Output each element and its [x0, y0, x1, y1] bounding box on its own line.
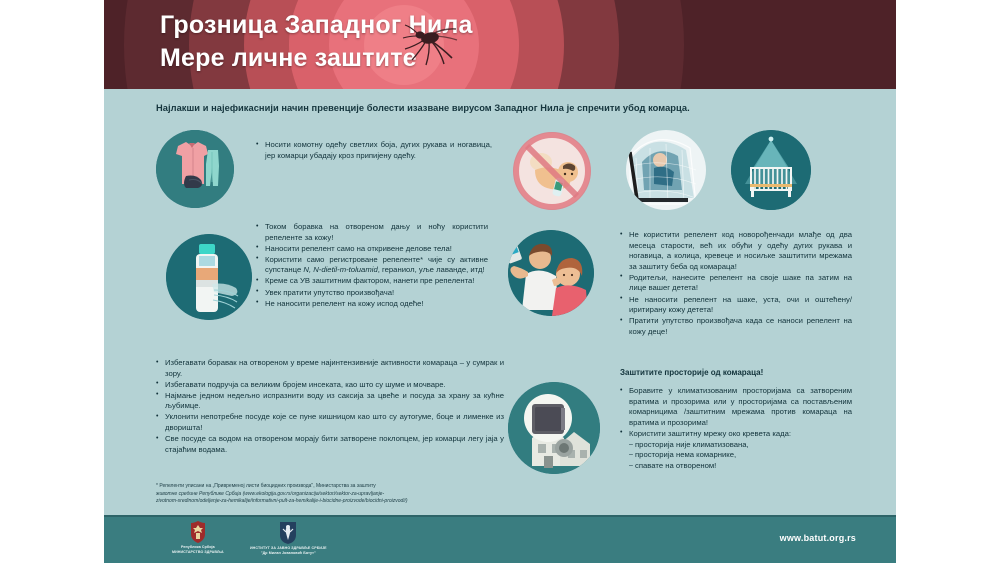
- list-item: Не наносити репелент на кожу испод одеће…: [256, 299, 488, 310]
- footnote-line-3: zivotnom-sredinom/odeljenje-za-hemikalij…: [156, 498, 586, 506]
- mosquito-icon: [400, 24, 460, 74]
- poster-footer: Република Србија МИНИСТАРСТВО ЗДРАВЉА ИН…: [104, 515, 896, 563]
- list-item: Носити комотну одећу светлих боја, дугих…: [256, 140, 492, 161]
- batut-crest-icon: [278, 521, 298, 545]
- list-item: Све посуде са водом на отвореном морају …: [156, 434, 504, 455]
- list-item: Користити заштитну мрежу око кревета кад…: [620, 429, 852, 440]
- no-baby-repellent-icon: [511, 130, 603, 212]
- list-item: Избегавати боравак на отвореном у време …: [156, 358, 504, 379]
- clothing-circle-icon: [156, 130, 234, 208]
- row-clothing-and-baby: Носити комотну одећу светлих боја, дугих…: [104, 128, 896, 224]
- clothing-icon-wrap: [156, 130, 248, 208]
- poster-header: Грозница Западног Нила Мере личне заштит…: [104, 0, 896, 89]
- crib-mosquito-net-icon: [731, 130, 819, 210]
- outdoor-text-block: Избегавати боравак на отвореном у време …: [156, 358, 504, 456]
- ministry-logo-text: Република Србија МИНИСТАРСТВО ЗДРАВЉА: [172, 545, 224, 555]
- rooms-bullet-list: Боравите у климатизованим просторијама с…: [620, 386, 852, 439]
- list-item: Користити само регистроване репеленте* ч…: [256, 255, 488, 276]
- rooms-heading: Заштитите просторије од комараца!: [620, 368, 852, 377]
- outdoor-bullet-list: Избегавати боравак на отвореном у време …: [156, 358, 504, 455]
- batut-logo-line-2: "Др Милан Јовановић Батут": [250, 551, 327, 556]
- subtitle-text: Најлакши и најефикаснији начин превенциј…: [156, 103, 896, 113]
- list-item: спавате на отвореном!: [629, 461, 852, 471]
- clothing-text-block: Носити комотну одећу светлих боја, дугих…: [256, 140, 492, 162]
- list-item: просторија нема комарнике,: [629, 450, 852, 460]
- repellent-text-block: Током боравка на отвореном дању и ноћу к…: [256, 222, 488, 310]
- repellent-bullet-list: Током боравка на отвореном дању и ноћу к…: [256, 222, 488, 309]
- list-item: Избегавати подручја са великим бројем ин…: [156, 380, 504, 391]
- active-substance-italic: N, N-dietil-m-toluamid: [303, 265, 377, 274]
- ministry-of-health-logo: Република Србија МИНИСТАРСТВО ЗДРАВЉА: [172, 520, 224, 555]
- website-link[interactable]: www.batut.org.rs: [780, 533, 856, 543]
- list-item: Током боравка на отвореном дању и ноћу к…: [256, 222, 488, 243]
- batut-logo-text: ИНСТИТУТ ЗА ЈАВНО ЗДРАВЉЕ СРБИЈЕ "Др Мил…: [250, 546, 327, 556]
- clothing-bullet-list: Носити комотну одећу светлих боја, дугих…: [256, 140, 492, 161]
- rooms-text-block: Заштитите просторије од комараца! Борави…: [620, 368, 852, 471]
- footnote: * Репеленти уписани на „Привременој лист…: [156, 483, 586, 506]
- air-conditioner-house-icon: [508, 382, 604, 474]
- list-item: Увек пратити упутство произвођача!: [256, 288, 488, 299]
- children-bullet-list: Не користити репелент код новорођенчади …: [620, 230, 852, 337]
- children-text-block: Не користити репелент код новорођенчади …: [620, 230, 852, 338]
- list-item: Креме са УВ заштитним фактором, нанети п…: [256, 276, 488, 287]
- serbia-coat-of-arms-icon: [188, 520, 208, 544]
- list-item: Уклонити непотребне посуде које се пуне …: [156, 412, 504, 433]
- list-item: просторија није климатизована,: [629, 440, 852, 450]
- list-item: Не користити репелент код новорођенчади …: [620, 230, 852, 272]
- list-item: Најмање једном недељно испразнити воду и…: [156, 391, 504, 412]
- list-item: Не наносити репелент на шаке, уста, очи …: [620, 295, 852, 316]
- batut-institute-logo: ИНСТИТУТ ЗА ЈАВНО ЗДРАВЉЕ СРБИЈЕ "Др Мил…: [250, 521, 327, 556]
- footnote-line-2: животне средине Републике Србија (www.ek…: [156, 491, 586, 499]
- list-item: Родитељи, нанесите репелент на своје шак…: [620, 273, 852, 294]
- rooms-sub-bullet-list: просторија није климатизована, просториј…: [629, 440, 852, 471]
- list-item: Боравите у климатизованим просторијама с…: [620, 386, 852, 428]
- stroller-mosquito-net-icon: [624, 128, 712, 212]
- footnote-line-1: * Репеленти уписани на „Привременој лист…: [156, 483, 586, 491]
- parent-applying-repellent-icon: [508, 230, 600, 316]
- list-item: Пратити упутство произвођача када се нан…: [620, 316, 852, 337]
- repellent-spray-icon: [166, 234, 252, 320]
- ministry-logo-line-2: МИНИСТАРСТВО ЗДРАВЉА: [172, 550, 224, 555]
- list-item: Наносити репелент само на откривене дело…: [256, 244, 488, 255]
- poster-canvas: Грозница Западног Нила Мере личне заштит…: [104, 0, 896, 563]
